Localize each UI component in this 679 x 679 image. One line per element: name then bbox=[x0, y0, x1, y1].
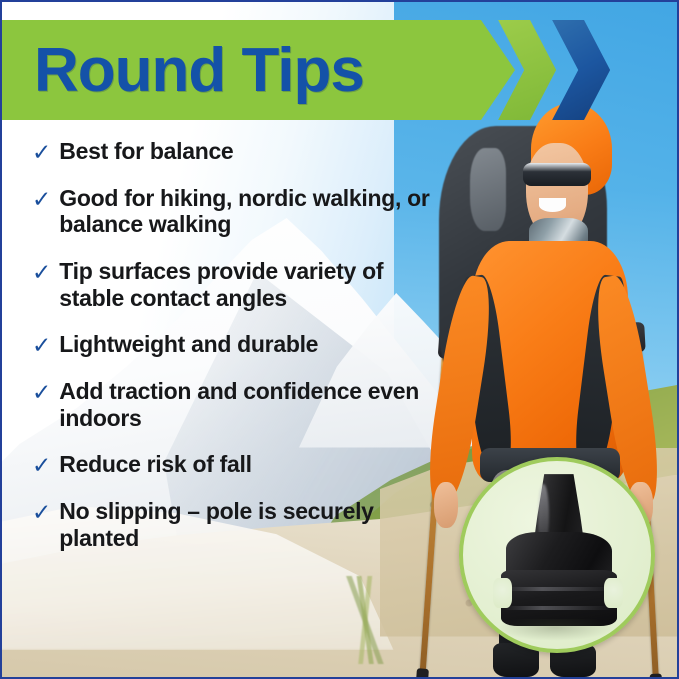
pole-tip-notch-left bbox=[493, 578, 512, 608]
pole-tip-groove-upper bbox=[504, 587, 613, 591]
list-item: ✓ Reduce risk of fall bbox=[32, 451, 452, 478]
benefit-label: Reduce risk of fall bbox=[59, 451, 251, 478]
benefit-label: No slipping – pole is securely planted bbox=[59, 498, 439, 551]
pole-tip-groove-lower bbox=[504, 606, 613, 610]
hiker-smile bbox=[539, 198, 566, 212]
list-item: ✓ Good for hiking, nordic walking, or ba… bbox=[32, 185, 452, 238]
check-icon: ✓ bbox=[32, 452, 51, 479]
backpack-frame bbox=[470, 148, 507, 231]
header-banner: Round Tips bbox=[2, 20, 677, 120]
list-item: ✓ Add traction and confidence even indoo… bbox=[32, 378, 452, 431]
benefit-label: Add traction and confidence even indoors bbox=[59, 378, 439, 431]
pole-tip-left bbox=[416, 668, 429, 679]
pole-tip-right bbox=[650, 674, 663, 679]
product-infographic: Round Tips ✓ Best for balance ✓ Good for… bbox=[0, 0, 679, 679]
check-icon: ✓ bbox=[32, 499, 51, 526]
grass-tuft bbox=[313, 576, 421, 664]
check-icon: ✓ bbox=[32, 259, 51, 286]
check-icon: ✓ bbox=[32, 186, 51, 213]
benefit-label: Best for balance bbox=[59, 138, 233, 165]
list-item: ✓ Tip surfaces provide variety of stable… bbox=[32, 258, 452, 311]
check-icon: ✓ bbox=[32, 379, 51, 406]
benefit-label: Good for hiking, nordic walking, or bala… bbox=[59, 185, 439, 238]
product-inset-circle bbox=[459, 457, 655, 653]
page-title: Round Tips bbox=[34, 20, 364, 120]
list-item: ✓ No slipping – pole is securely planted bbox=[32, 498, 452, 551]
chevron-blue-icon bbox=[552, 20, 610, 120]
check-icon: ✓ bbox=[32, 139, 51, 166]
pole-tip-notch-right bbox=[604, 578, 623, 608]
check-icon: ✓ bbox=[32, 332, 51, 359]
list-item: ✓ Lightweight and durable bbox=[32, 331, 452, 358]
sunglasses-icon bbox=[523, 163, 591, 186]
list-item: ✓ Best for balance bbox=[32, 138, 452, 165]
benefit-label: Lightweight and durable bbox=[59, 331, 318, 358]
pole-tip-shadow bbox=[497, 619, 614, 642]
benefits-list: ✓ Best for balance ✓ Good for hiking, no… bbox=[32, 138, 452, 551]
benefit-label: Tip surfaces provide variety of stable c… bbox=[59, 258, 439, 311]
